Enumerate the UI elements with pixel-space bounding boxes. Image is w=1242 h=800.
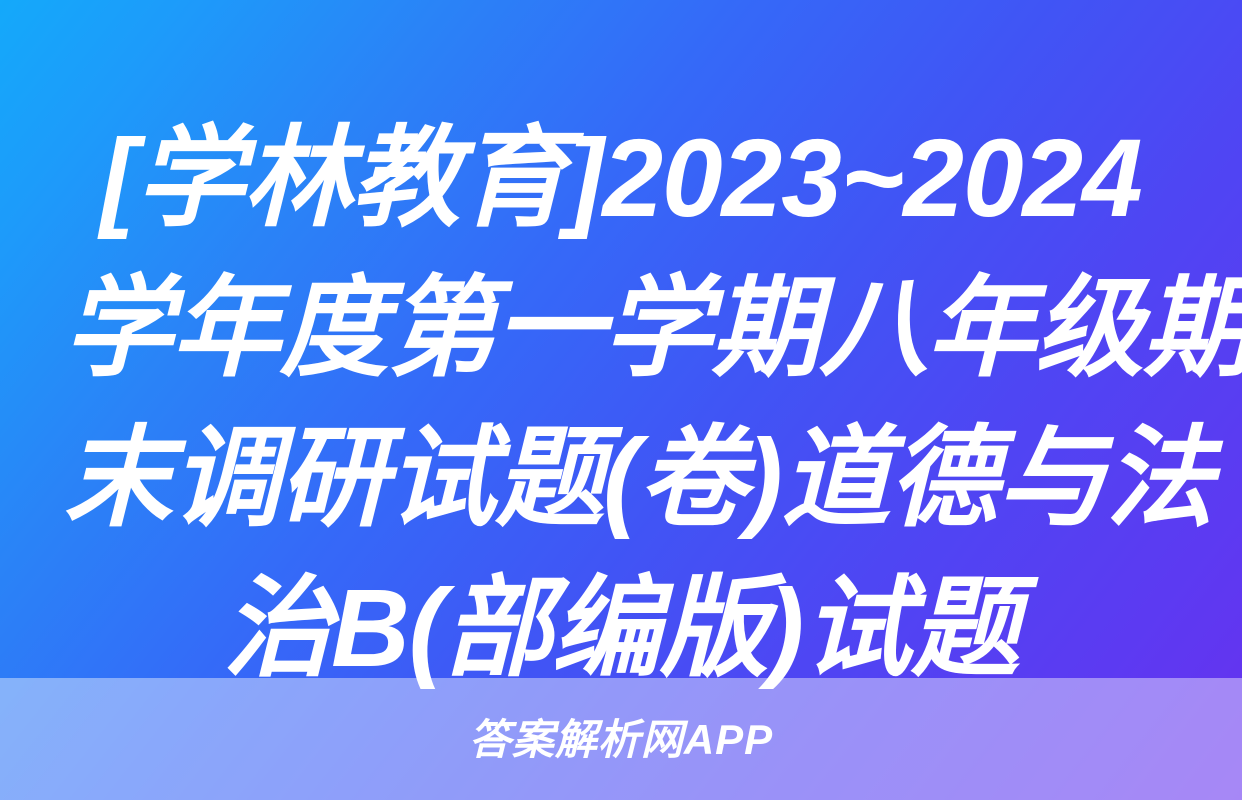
watermark-label: 答案解析网APP xyxy=(469,719,773,761)
watermark-band: 答案解析网APP xyxy=(0,678,1242,800)
title-line-3: 末调研试题(卷)道德与法 xyxy=(64,404,1179,554)
title-line-2: 学年度第一学期八年级期 xyxy=(64,254,1179,404)
poster-title: [学林教育]2023~2024 学年度第一学期八年级期 末调研试题(卷)道德与法… xyxy=(0,104,1242,704)
title-line-1: [学林教育]2023~2024 xyxy=(64,104,1179,254)
poster-canvas: [学林教育]2023~2024 学年度第一学期八年级期 末调研试题(卷)道德与法… xyxy=(0,0,1242,800)
